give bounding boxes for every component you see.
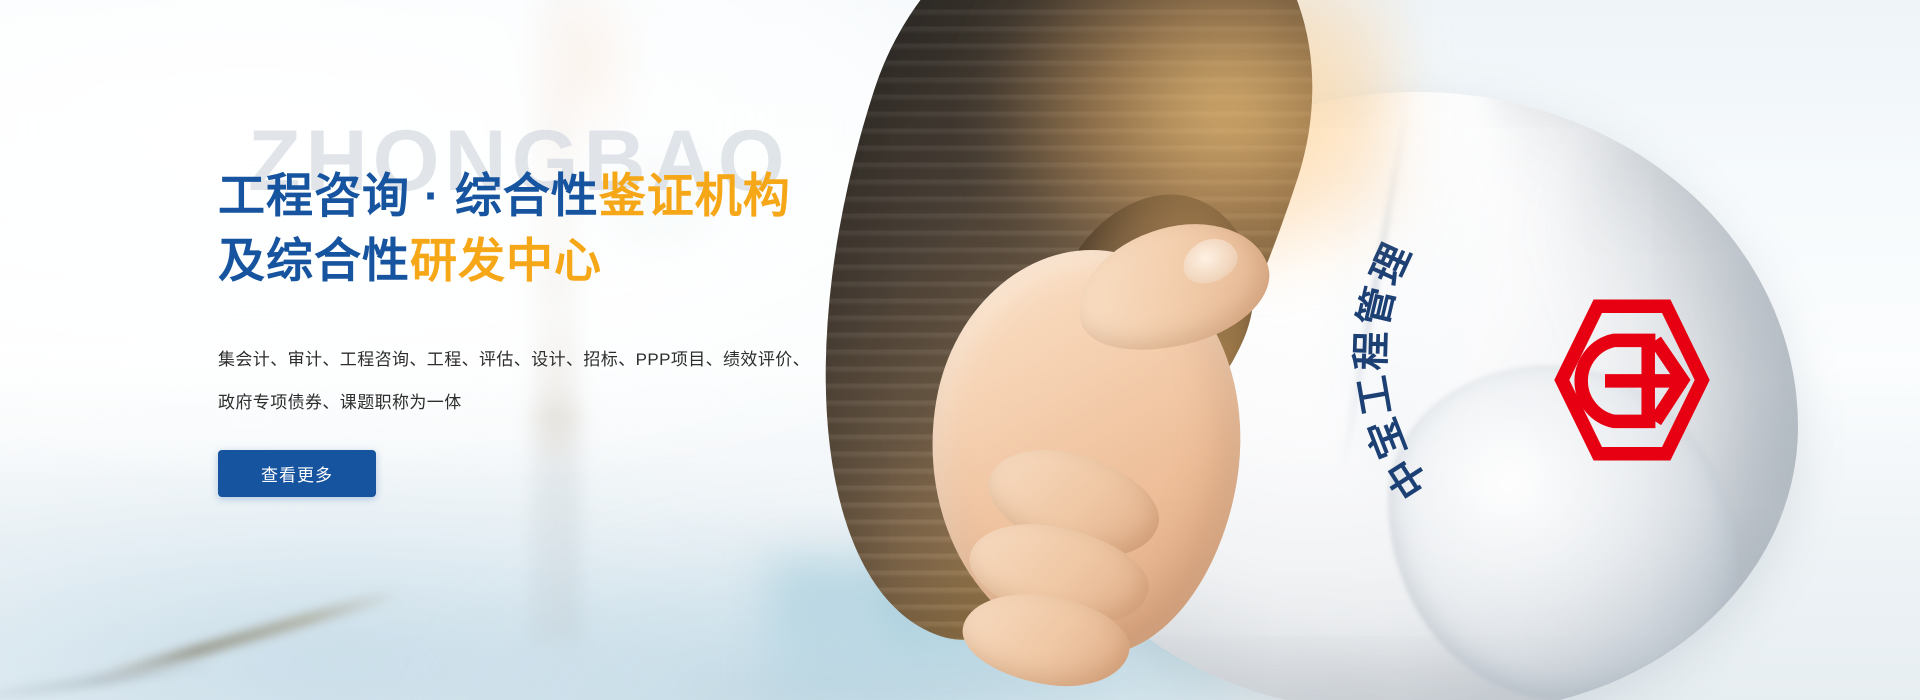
- hero-banner: 中宝工程管理: [0, 0, 1920, 700]
- view-more-button[interactable]: 查看更多: [218, 450, 376, 497]
- description-line-2: 政府专项债券、课题职称为一体: [218, 381, 938, 424]
- headline-line1-primary: 工程咨询 · 综合性: [218, 169, 599, 222]
- headline-line-1: 工程咨询 · 综合性鉴证机构: [218, 164, 938, 229]
- headline-line-2: 及综合性研发中心: [218, 229, 938, 294]
- hero-copy-block: ZHONGBAO 工程咨询 · 综合性鉴证机构 及综合性研发中心 集会计、审计、…: [218, 118, 938, 497]
- headline-line2-accent: 研发中心: [410, 234, 602, 287]
- headline-line2-primary: 及综合性: [218, 234, 410, 287]
- hero-description: 集会计、审计、工程咨询、工程、评估、设计、招标、PPP项目、绩效评价、 政府专项…: [218, 338, 938, 425]
- description-line-1: 集会计、审计、工程咨询、工程、评估、设计、招标、PPP项目、绩效评价、: [218, 338, 938, 381]
- headline-line1-accent: 鉴证机构: [599, 169, 791, 222]
- page-title: 工程咨询 · 综合性鉴证机构 及综合性研发中心: [218, 164, 938, 294]
